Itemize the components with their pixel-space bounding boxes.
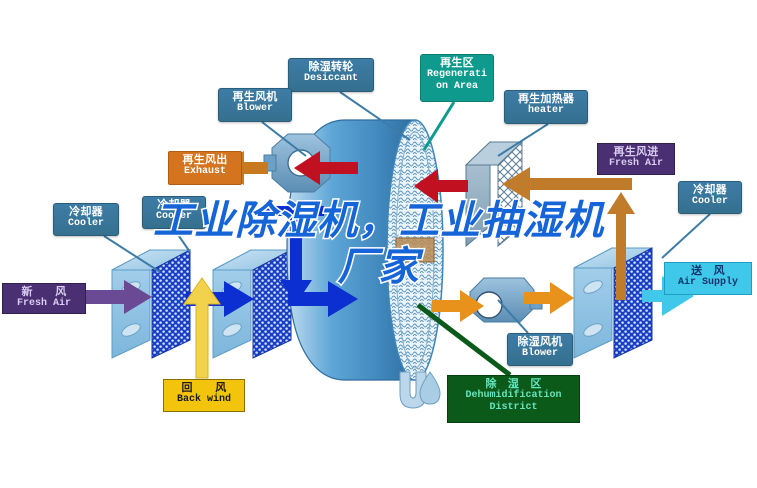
label-cn: 除湿风机 — [511, 336, 569, 348]
label-en: Exhaust — [172, 166, 238, 177]
label-desiccant-wheel: 除湿转轮Desiccant — [288, 58, 374, 92]
label-en: Blower — [511, 348, 569, 359]
label-dehumidification-district: 除 湿 区Dehumidification District — [447, 375, 580, 423]
label-regen-exhaust: 再生风出Exhaust — [168, 151, 242, 185]
title-overlay: 工业除湿机，工业抽湿机 厂家 — [0, 198, 757, 290]
leader-regeneration-area — [424, 102, 454, 150]
label-regen-blower: 再生风机Blower — [218, 88, 292, 122]
label-en: Desiccant — [292, 73, 370, 84]
label-cn: 再生风机 — [222, 91, 288, 103]
label-cn: 除 湿 区 — [451, 378, 576, 390]
label-dehumid-blower: 除湿风机Blower — [507, 333, 573, 366]
label-regeneration-area: 再生区Regenerati on Area — [420, 54, 494, 102]
label-en: Fresh Air — [601, 158, 671, 169]
label-cn: 再生风进 — [601, 146, 671, 158]
label-cn: 回 风 — [167, 382, 241, 394]
water-droplet-icon — [400, 372, 440, 408]
label-regen-fresh-air: 再生风进Fresh Air — [597, 143, 675, 175]
label-en: Dehumidification District — [451, 390, 576, 412]
label-en: Regenerati on Area — [424, 69, 490, 91]
label-cn: 再生风出 — [172, 154, 238, 166]
label-cn: 冷却器 — [682, 184, 738, 196]
dehumidifier-diagram: 除湿转轮Desiccant再生风机Blower再生风出Exhaust再生区Reg… — [0, 0, 757, 488]
label-cn: 再生加热器 — [508, 93, 584, 105]
label-cn: 再生区 — [424, 57, 490, 69]
label-cn: 除湿转轮 — [292, 61, 370, 73]
label-en: Fresh Air — [6, 298, 82, 309]
label-en: Blower — [222, 103, 288, 114]
label-regen-heater: 再生加热器heater — [504, 90, 588, 124]
label-en: Back wind — [167, 394, 241, 405]
title-line-1: 工业除湿机，工业抽湿机 — [153, 198, 604, 244]
title-line-2: 厂家 — [0, 244, 757, 290]
label-back-wind: 回 风Back wind — [163, 379, 245, 412]
label-en: heater — [508, 105, 584, 116]
